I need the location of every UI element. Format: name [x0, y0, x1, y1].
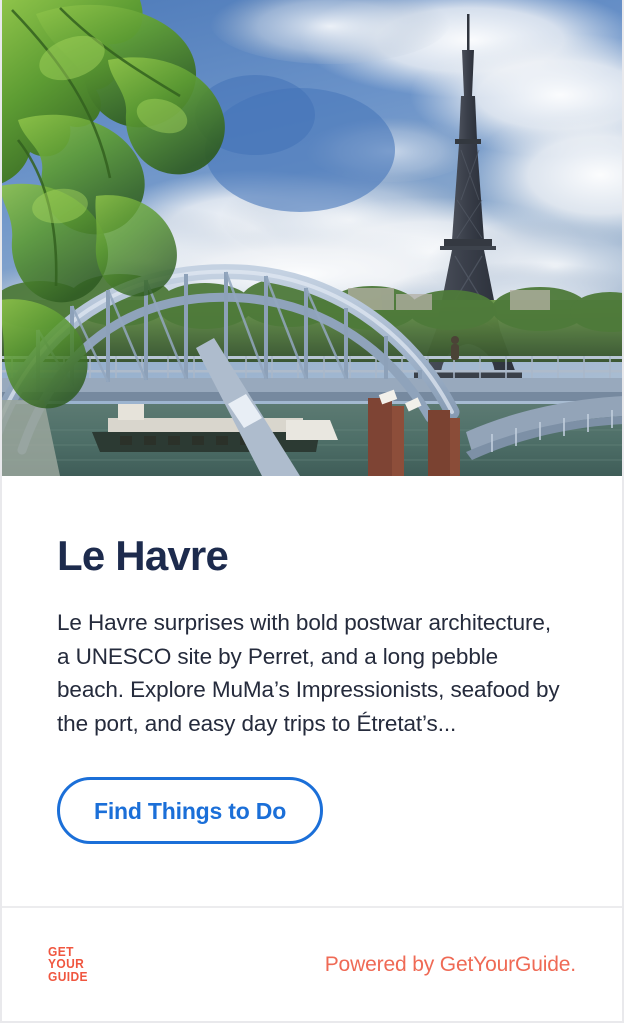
hero-photo-illustration: [2, 0, 622, 476]
card-content: Le Havre Le Havre surprises with bold po…: [2, 476, 622, 906]
card-footer: GET YOUR GUIDE Powered by GetYourGuide.: [2, 906, 622, 1021]
destination-description: Le Havre surprises with bold postwar arc…: [57, 606, 567, 740]
destination-card: Le Havre Le Havre surprises with bold po…: [0, 0, 624, 1023]
getyourguide-logo[interactable]: GET YOUR GUIDE: [48, 946, 88, 984]
logo-line-guide: GUIDE: [48, 971, 88, 984]
logo-line-get: GET: [48, 946, 88, 959]
page-title: Le Havre: [57, 534, 567, 578]
powered-by-label: Powered by GetYourGuide.: [325, 953, 576, 977]
cta-container: Find Things to Do: [57, 777, 567, 844]
find-things-to-do-button[interactable]: Find Things to Do: [57, 777, 323, 844]
hero-image: [2, 0, 622, 476]
